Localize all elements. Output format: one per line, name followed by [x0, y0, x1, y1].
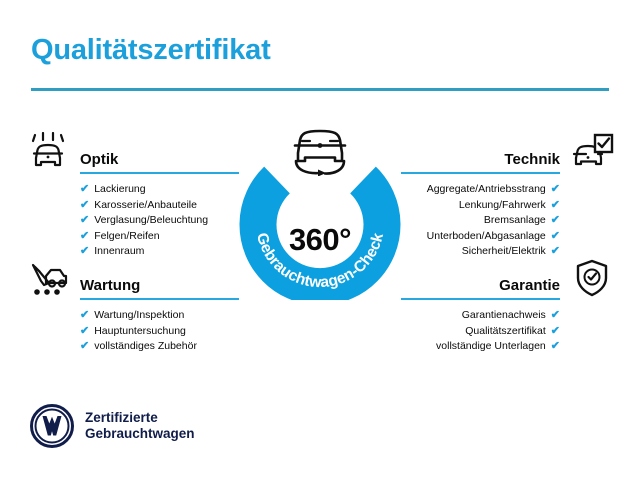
section-garantie-title: Garantie — [499, 277, 560, 294]
list-item-label: Garantienachweis — [462, 308, 546, 324]
list-item-label: Qualitätszertifikat — [465, 324, 546, 340]
section-garantie-list: ✔Garantienachweis ✔Qualitätszertifikat ✔… — [401, 308, 616, 355]
vw-brand-line2: Gebrauchtwagen — [85, 426, 195, 441]
check-icon: ✔ — [551, 341, 560, 352]
list-item: ✔vollständige Unterlagen — [401, 339, 616, 355]
vw-brand-line1: Zertifizierte — [85, 410, 158, 425]
car-checkbox-icon — [568, 132, 616, 172]
list-item: ✔Wartung/Inspektion — [24, 308, 239, 324]
list-item: ✔Qualitätszertifikat — [401, 324, 616, 340]
list-item-label: Wartung/Inspektion — [94, 308, 184, 324]
list-item-label: Lenkung/Fahrwerk — [459, 198, 546, 214]
section-wartung: Wartung ✔Wartung/Inspektion ✔Hauptunters… — [24, 258, 239, 355]
section-wartung-underline — [80, 298, 239, 300]
section-technik-header: Technik — [401, 132, 616, 174]
list-item: ✔Karosserie/Anbauteile — [24, 198, 239, 214]
check-icon: ✔ — [80, 341, 89, 352]
list-item: ✔Garantienachweis — [401, 308, 616, 324]
section-optik: Optik ✔Lackierung ✔Karosserie/Anbauteile… — [24, 132, 239, 260]
check-icon: ✔ — [80, 326, 89, 337]
section-garantie-header: Garantie — [401, 258, 616, 300]
pen-car-service-icon — [24, 258, 72, 298]
section-wartung-header: Wartung — [24, 258, 239, 300]
page-title: Qualitätszertifikat — [31, 34, 271, 67]
list-item: ✔Hauptuntersuchung — [24, 324, 239, 340]
section-garantie: Garantie ✔Garantienachweis ✔Qualitätszer… — [401, 258, 616, 355]
list-item-label: Felgen/Reifen — [94, 229, 159, 245]
check-icon: ✔ — [80, 184, 89, 195]
list-item: ✔Unterboden/Abgasanlage — [401, 229, 616, 245]
vw-brand-block: Zertifizierte Gebrauchtwagen — [30, 404, 195, 448]
list-item-label: Karosserie/Anbauteile — [94, 198, 197, 214]
section-optik-underline — [80, 172, 239, 174]
list-item: ✔vollständiges Zubehör — [24, 339, 239, 355]
list-item: ✔Aggregate/Antriebsstrang — [401, 182, 616, 198]
list-item-label: Lackierung — [94, 182, 145, 198]
check-icon: ✔ — [80, 215, 89, 226]
section-optik-title: Optik — [80, 151, 118, 168]
check-icon: ✔ — [80, 200, 89, 211]
section-optik-header: Optik — [24, 132, 239, 174]
car-rotation-icon — [280, 120, 360, 176]
section-technik: Technik ✔Aggregate/Antriebsstrang ✔Lenku… — [401, 132, 616, 260]
check-icon: ✔ — [80, 246, 89, 257]
list-item-label: Verglasung/Beleuchtung — [94, 213, 208, 229]
section-garantie-underline — [401, 298, 560, 300]
list-item: ✔Lenkung/Fahrwerk — [401, 198, 616, 214]
check-icon: ✔ — [551, 200, 560, 211]
check-icon: ✔ — [80, 310, 89, 321]
list-item: ✔Verglasung/Beleuchtung — [24, 213, 239, 229]
check-icon: ✔ — [80, 231, 89, 242]
list-item-label: Hauptuntersuchung — [94, 324, 186, 340]
check-icon: ✔ — [551, 184, 560, 195]
list-item-label: Aggregate/Antriebsstrang — [427, 182, 546, 198]
check-icon: ✔ — [551, 326, 560, 337]
shield-check-icon — [568, 258, 616, 298]
section-technik-list: ✔Aggregate/Antriebsstrang ✔Lenkung/Fahrw… — [401, 182, 616, 260]
section-technik-title: Technik — [504, 151, 560, 168]
title-divider — [31, 88, 609, 91]
vw-brand-text: Zertifizierte Gebrauchtwagen — [85, 410, 195, 442]
section-technik-underline — [401, 172, 560, 174]
list-item-label: Bremsanlage — [484, 213, 546, 229]
car-shine-icon — [24, 132, 72, 172]
list-item: ✔Lackierung — [24, 182, 239, 198]
check-icon: ✔ — [551, 231, 560, 242]
list-item-label: vollständige Unterlagen — [436, 339, 546, 355]
list-item-label: Unterboden/Abgasanlage — [427, 229, 546, 245]
badge-degrees-label: 360° — [229, 222, 411, 258]
check-icon: ✔ — [551, 246, 560, 257]
section-wartung-list: ✔Wartung/Inspektion ✔Hauptuntersuchung ✔… — [24, 308, 239, 355]
certificate-page: Qualitätszertifikat Optik — [0, 0, 640, 480]
vw-logo-icon — [30, 404, 74, 448]
list-item: ✔Felgen/Reifen — [24, 229, 239, 245]
list-item: ✔Bremsanlage — [401, 213, 616, 229]
check-icon: ✔ — [551, 310, 560, 321]
section-optik-list: ✔Lackierung ✔Karosserie/Anbauteile ✔Verg… — [24, 182, 239, 260]
section-wartung-title: Wartung — [80, 277, 140, 294]
360-check-badge: Gebrauchtwagen-Check 360° — [229, 118, 411, 300]
check-icon: ✔ — [551, 215, 560, 226]
list-item-label: vollständiges Zubehör — [94, 339, 197, 355]
